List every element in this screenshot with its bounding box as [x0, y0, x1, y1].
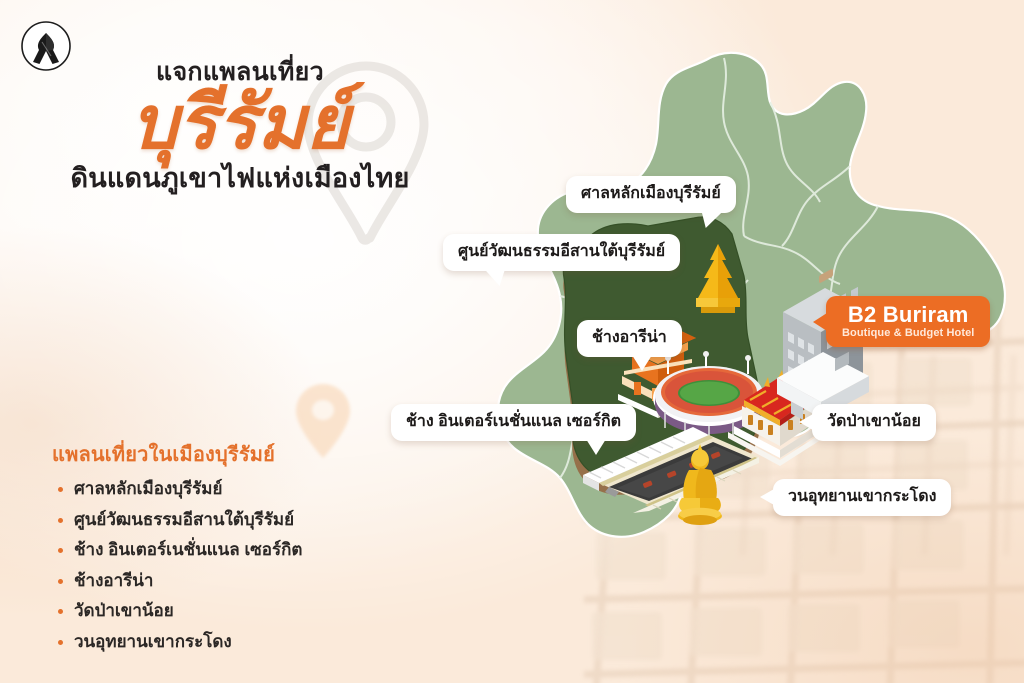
callout-khao-kradong-park[interactable]: วนอุทยานเขากระโดง — [773, 479, 951, 516]
list-item: วัดป่าเขาน้อย — [52, 601, 382, 621]
buriram-map — [448, 40, 1024, 683]
headline-block: แจกแพลนเที่ยว บุรีรัมย์ ดินแดนภูเขาไฟแห่… — [40, 58, 440, 195]
plan-list-title: แพลนเที่ยวในเมืองบุรีรัมย์ — [52, 438, 382, 470]
plan-list: แพลนเที่ยวในเมืองบุรีรัมย์ ศาลหลักเมืองบ… — [52, 438, 382, 662]
callout-tail — [483, 268, 508, 286]
list-item: ช้าง อินเตอร์เนชั่นแนล เซอร์กิต — [52, 540, 382, 560]
callout-label: วนอุทยานเขากระโดง — [788, 488, 936, 505]
callout-label: ศูนย์วัฒนธรรมอีสานใต้บุรีรัมย์ — [458, 243, 665, 260]
callout-city-pillar-shrine[interactable]: ศาลหลักเมืองบุรีรัมย์ — [566, 176, 736, 213]
callout-wat-pa-khao-noi[interactable]: วัดป่าเขาน้อย — [812, 404, 936, 441]
poster-root: แจกแพลนเที่ยว บุรีรัมย์ ดินแดนภูเขาไฟแห่… — [0, 0, 1024, 683]
plan-list-items: ศาลหลักเมืองบุรีรัมย์ ศูนย์วัฒนธรรมอีสาน… — [52, 479, 382, 651]
hotel-badge-b2-buriram[interactable]: B2 Buriram Boutique & Budget Hotel — [826, 296, 990, 347]
hotel-badge-tail — [813, 313, 827, 331]
list-item: ศูนย์วัฒนธรรมอีสานใต้บุรีรัมย์ — [52, 510, 382, 530]
callout-tail — [586, 439, 606, 455]
callout-cultural-center[interactable]: ศูนย์วัฒนธรรมอีสานใต้บุรีรัมย์ — [443, 234, 680, 271]
callout-label: ศาลหลักเมืองบุรีรัมย์ — [581, 185, 721, 202]
list-item: ศาลหลักเมืองบุรีรัมย์ — [52, 479, 382, 499]
callout-label: ช้างอารีน่า — [592, 329, 667, 346]
list-item: วนอุทยานเขากระโดง — [52, 632, 382, 652]
page-title: บุรีรัมย์ — [40, 85, 440, 160]
hotel-tagline: Boutique & Budget Hotel — [842, 327, 974, 339]
callout-chang-arena[interactable]: ช้างอารีน่า — [577, 320, 682, 357]
callout-label: วัดป่าเขาน้อย — [827, 413, 921, 430]
callout-label: ช้าง อินเตอร์เนชั่นแนล เซอร์กิต — [406, 413, 621, 430]
map-svg — [448, 40, 1024, 683]
callout-tail — [799, 414, 813, 430]
headline-subtitle: ดินแดนภูเขาไฟแห่งเมืองไทย — [40, 162, 440, 194]
callout-tail — [696, 210, 723, 228]
list-item: ช้างอารีน่า — [52, 571, 382, 591]
callout-tail — [760, 489, 774, 505]
callout-chang-circuit[interactable]: ช้าง อินเตอร์เนชั่นแนล เซอร์กิต — [391, 404, 636, 441]
callout-tail — [632, 355, 652, 371]
hotel-name: B2 Buriram — [842, 303, 974, 326]
